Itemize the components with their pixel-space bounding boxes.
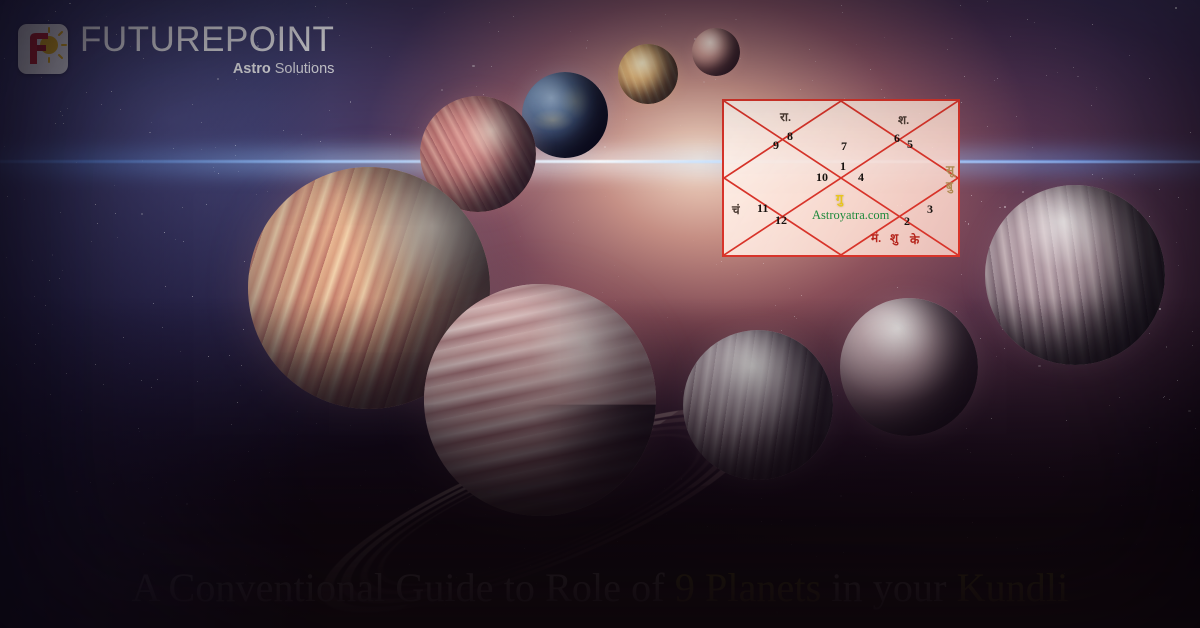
kundli-house-2: 2 — [904, 214, 910, 229]
venus-planet — [618, 44, 678, 104]
kundli-watermark: Astroyatra.com — [812, 208, 889, 223]
mercury-planet — [692, 28, 740, 76]
kundli-house-8: 8 — [787, 129, 793, 144]
kundli-house-5: 5 — [907, 137, 913, 152]
kundli-grid-lines — [724, 101, 958, 255]
kundli-house-10: 10 — [816, 170, 828, 185]
kundli-chart[interactable]: रा. श. सू बु चं मं. शु के 1 2 3 4 5 6 7 … — [722, 99, 960, 257]
kundli-label-shukra: शु — [890, 229, 898, 246]
kundli-label-chandra: चं — [732, 201, 740, 218]
kundli-label-budh: बु — [946, 177, 953, 194]
kundli-house-4: 4 — [858, 170, 864, 185]
kundli-house-7: 7 — [841, 139, 847, 154]
kundli-house-11: 11 — [757, 201, 768, 216]
left-fade-overlay — [0, 0, 330, 628]
kundli-house-9: 9 — [773, 138, 779, 153]
kundli-label-mangal: मं. — [871, 229, 881, 246]
kundli-house-3: 3 — [927, 202, 933, 217]
kundli-label-surya: सू — [946, 161, 954, 178]
banner-canvas: FUTUREPOINT Astro Solutions रा. श. सू बु… — [0, 0, 1200, 628]
kundli-label-shani: श. — [898, 111, 909, 128]
kundli-house-12: 12 — [775, 213, 787, 228]
kundli-house-1: 1 — [840, 159, 846, 174]
kundli-label-ketu: के — [910, 231, 919, 248]
kundli-house-6: 6 — [894, 131, 900, 146]
kundli-label-guru: गु — [836, 190, 843, 207]
kundli-label-rahu: रा. — [780, 108, 791, 125]
